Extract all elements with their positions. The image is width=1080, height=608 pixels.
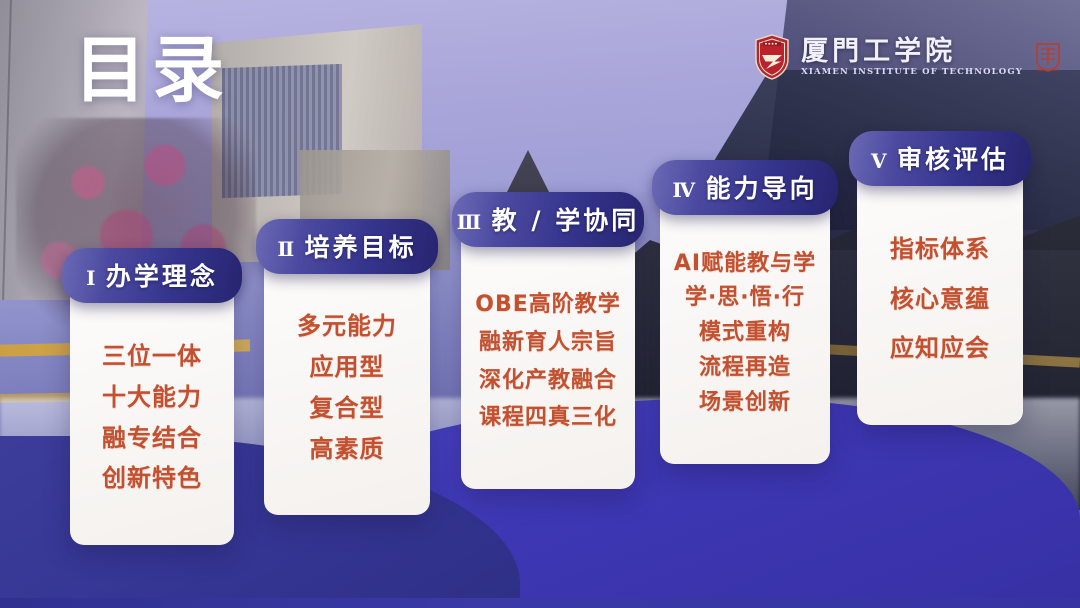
list-item: 课程四真三化 xyxy=(479,401,617,436)
toc-card-2-numeral: Ⅱ xyxy=(277,237,294,261)
list-item: 核心意蕴 xyxy=(890,281,990,319)
list-item: 指标体系 xyxy=(890,231,990,269)
list-item: 流程再造 xyxy=(699,351,791,386)
toc-card-5[interactable]: Ⅴ 审核评估 指标体系 核心意蕴 应知应会 xyxy=(849,131,1031,425)
toc-card-4-header[interactable]: Ⅳ 能力导向 xyxy=(652,160,838,215)
toc-card-3-title: 教 / 学协同 xyxy=(492,201,640,237)
toc-card-1-body: 三位一体 十大能力 融专结合 创新特色 xyxy=(70,283,234,545)
list-item: 三位一体 xyxy=(102,338,202,376)
toc-card-2-title: 培养目标 xyxy=(305,228,417,264)
toc-card-1[interactable]: Ⅰ 办学理念 三位一体 十大能力 融专结合 创新特色 xyxy=(62,248,242,545)
toc-card-2-header[interactable]: Ⅱ 培养目标 xyxy=(256,219,438,274)
list-item: 深化产教融合 xyxy=(479,364,617,399)
list-item: 多元能力 xyxy=(297,308,397,346)
list-item: 创新特色 xyxy=(102,460,202,498)
toc-card-4[interactable]: Ⅳ 能力导向 AI赋能教与学 学·思·悟·行 模式重构 流程再造 场景创新 xyxy=(652,160,838,464)
toc-card-1-title: 办学理念 xyxy=(106,257,218,293)
toc-card-4-numeral: Ⅳ xyxy=(672,178,695,202)
decorative-wave-footer xyxy=(0,598,1080,608)
list-item: 融新育人宗旨 xyxy=(479,326,617,361)
toc-card-5-numeral: Ⅴ xyxy=(871,149,887,173)
list-item: 模式重构 xyxy=(699,316,791,351)
toc-card-3-header[interactable]: Ⅲ 教 / 学协同 xyxy=(452,192,644,247)
list-item: 复合型 xyxy=(309,390,384,428)
list-item: 应知应会 xyxy=(890,330,990,368)
list-item: AI赋能教与学 xyxy=(674,247,816,282)
toc-card-5-title: 审核评估 xyxy=(897,140,1009,176)
toc-card-4-title: 能力导向 xyxy=(706,169,818,205)
list-item: 学·思·悟·行 xyxy=(685,281,805,316)
toc-card-2[interactable]: Ⅱ 培养目标 多元能力 应用型 复合型 高素质 xyxy=(256,219,438,515)
toc-card-2-body: 多元能力 应用型 复合型 高素质 xyxy=(264,254,430,515)
toc-card-1-header[interactable]: Ⅰ 办学理念 xyxy=(62,248,242,303)
list-item: 应用型 xyxy=(309,349,384,387)
brand-text: 厦門工学院 XIAMEN INSTITUTE OF TECHNOLOGY xyxy=(801,38,1023,77)
brand-name-cn: 厦門工学院 xyxy=(801,38,1023,65)
list-item: 高素质 xyxy=(309,431,384,469)
list-item: OBE高阶教学 xyxy=(475,288,621,323)
toc-card-5-body: 指标体系 核心意蕴 应知应会 xyxy=(857,166,1023,425)
page-title: 目录 xyxy=(74,34,230,106)
toc-card-3[interactable]: Ⅲ 教 / 学协同 OBE高阶教学 融新育人宗旨 深化产教融合 课程四真三化 xyxy=(452,192,644,489)
red-seal-stamp-icon xyxy=(1034,42,1062,72)
toc-card-3-body: OBE高阶教学 融新育人宗旨 深化产教融合 课程四真三化 xyxy=(461,227,636,489)
slide-root: 目录 厦門工学院 XIAMEN INSTITUTE OF TECHNOLOGY xyxy=(0,0,1080,608)
toc-card-3-numeral: Ⅲ xyxy=(457,210,482,234)
toc-card-1-numeral: Ⅰ xyxy=(86,266,96,290)
toc-card-4-body: AI赋能教与学 学·思·悟·行 模式重构 流程再造 场景创新 xyxy=(660,195,829,464)
list-item: 融专结合 xyxy=(102,420,202,458)
list-item: 十大能力 xyxy=(102,379,202,417)
brand-lockup: 厦門工学院 XIAMEN INSTITUTE OF TECHNOLOGY xyxy=(754,34,1062,80)
list-item: 场景创新 xyxy=(699,386,791,421)
brand-name-en: XIAMEN INSTITUTE OF TECHNOLOGY xyxy=(801,68,1023,77)
shield-crest-icon xyxy=(754,34,790,80)
toc-card-5-header[interactable]: Ⅴ 审核评估 xyxy=(849,131,1031,186)
